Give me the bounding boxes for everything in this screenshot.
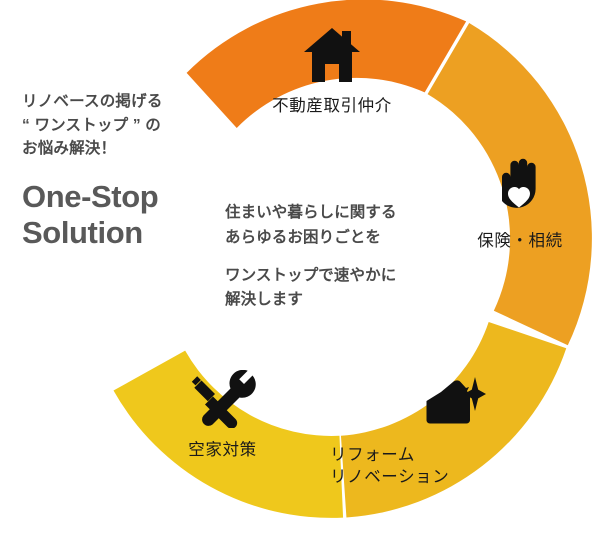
center-copy-block: 住まいや暮らしに関する あらゆるお困りごとを ワンストップで速やかに 解決します (225, 201, 455, 313)
segment-label-text-vacant: 空家対策 (188, 441, 256, 459)
segment-label-text-reform: リフォーム リノベーション (330, 446, 449, 486)
headline-block: リノベースの掲げる “ ワンストップ ” の お悩み解決！ One-Stop S… (22, 90, 222, 251)
segment-label-reform[interactable]: リフォーム リノベーション (330, 375, 505, 489)
hammer-wrench-icon (150, 370, 295, 433)
one-stop-solution-graphic: リノベースの掲げる “ ワンストップ ” の お悩み解決！ One-Stop S… (0, 0, 600, 533)
center-paragraph-1: 住まいや暮らしに関する あらゆるお困りごとを (225, 201, 455, 251)
house-sparkle-icon (425, 375, 505, 434)
segment-label-insurance[interactable]: 保険・相続 (455, 155, 585, 252)
lede-text: リノベースの掲げる “ ワンストップ ” の お悩み解決！ (22, 90, 222, 161)
house-icon (232, 26, 432, 89)
segment-label-text-realestate: 不動産取引仲介 (272, 97, 392, 115)
page-title: One-Stop Solution (22, 179, 222, 251)
segment-label-realestate[interactable]: 不動産取引仲介 (232, 26, 432, 117)
segment-label-text-insurance: 保険・相続 (477, 232, 563, 250)
segment-label-vacant[interactable]: 空家対策 (150, 370, 295, 461)
center-paragraph-2: ワンストップで速やかに 解決します (225, 264, 455, 314)
hand-heart-icon (455, 155, 585, 224)
